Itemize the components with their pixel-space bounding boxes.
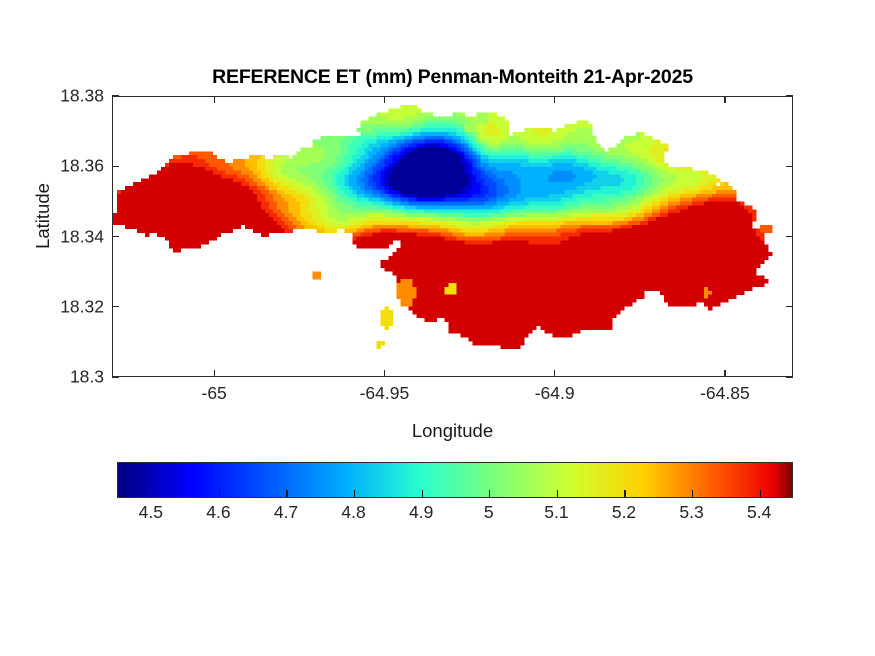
map-axes	[112, 96, 793, 377]
colorbar-tick	[692, 490, 693, 497]
colorbar-tick-label: 4.5	[139, 502, 163, 523]
y-tick	[112, 95, 119, 96]
y-tick	[112, 236, 119, 237]
colorbar-tick-label: 5	[484, 502, 494, 523]
colorbar-tick-label: 5.1	[544, 502, 568, 523]
x-tick	[554, 370, 555, 377]
x-tick-label: -65	[201, 383, 226, 404]
y-tick-label: 18.38	[0, 86, 104, 107]
colorbar-tick-label: 5.2	[612, 502, 636, 523]
x-tick-label: -64.95	[360, 383, 410, 404]
x-tick	[724, 96, 725, 103]
colorbar-tick	[422, 490, 423, 497]
x-tick	[384, 96, 385, 103]
y-tick	[786, 376, 793, 377]
y-tick-label: 18.3	[0, 367, 104, 388]
x-tick-label: -64.9	[535, 383, 575, 404]
colorbar-tick-label: 4.6	[206, 502, 230, 523]
colorbar-tick-label: 5.3	[679, 502, 703, 523]
y-tick	[112, 306, 119, 307]
colorbar	[117, 462, 793, 498]
page-title: REFERENCE ET (mm) Penman-Monteith 21-Apr…	[112, 66, 793, 89]
colorbar-tick	[286, 490, 287, 497]
colorbar-tick	[354, 490, 355, 497]
x-tick	[384, 370, 385, 377]
y-tick	[112, 376, 119, 377]
colorbar-tick	[624, 490, 625, 497]
x-tick	[724, 370, 725, 377]
colorbar-tick	[489, 490, 490, 497]
y-tick-label: 18.32	[0, 296, 104, 317]
x-tick-label: -64.85	[700, 383, 750, 404]
colorbar-tick	[151, 490, 152, 497]
y-tick	[786, 306, 793, 307]
y-tick	[786, 236, 793, 237]
x-axis-label: Longitude	[112, 420, 793, 442]
y-tick	[786, 166, 793, 167]
x-tick	[214, 370, 215, 377]
colorbar-tick	[760, 490, 761, 497]
y-axis-label: Latitude	[32, 156, 54, 276]
colorbar-tick-label: 5.4	[747, 502, 771, 523]
colorbar-tick-label: 4.8	[341, 502, 365, 523]
matlab-figure: REFERENCE ET (mm) Penman-Monteith 21-Apr…	[0, 0, 875, 656]
colorbar-tick-label: 4.9	[409, 502, 433, 523]
y-tick	[786, 95, 793, 96]
x-tick	[554, 96, 555, 103]
y-tick	[112, 166, 119, 167]
et-contour-map	[113, 97, 792, 376]
colorbar-tick	[557, 490, 558, 497]
colorbar-tick-label: 4.7	[274, 502, 298, 523]
x-tick	[214, 96, 215, 103]
colorbar-tick	[219, 490, 220, 497]
